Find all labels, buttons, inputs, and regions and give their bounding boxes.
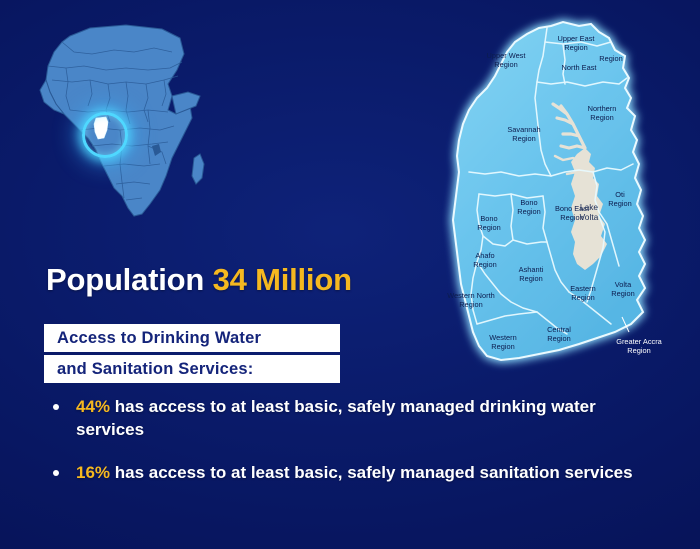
svg-text:Region: Region: [494, 60, 517, 69]
region-label: EasternRegion: [570, 284, 595, 302]
region-label: BonoRegion: [477, 214, 500, 232]
svg-text:Volta: Volta: [615, 280, 632, 289]
svg-text:Region: Region: [547, 334, 570, 343]
bullet-dot-icon: [53, 470, 59, 476]
lake-volta-label: Lake Volta: [580, 202, 599, 222]
svg-text:Western North: Western North: [447, 291, 495, 300]
ghana-regions-map: Upper WestRegion Upper EastRegion North …: [420, 12, 698, 380]
svg-text:Ahafo: Ahafo: [475, 251, 494, 260]
section-heading-line2-text: and Sanitation Services:: [57, 360, 253, 379]
svg-text:Region: Region: [477, 223, 500, 232]
region-label: VoltaRegion: [611, 280, 634, 298]
section-heading-line1: Access to Drinking Water: [44, 324, 340, 352]
region-label: BonoRegion: [517, 198, 540, 216]
region-label: NorthernRegion: [588, 104, 617, 122]
africa-continent-shape: [40, 25, 204, 216]
svg-text:Region: Region: [611, 289, 634, 298]
list-item: 44% has access to at least basic, safely…: [46, 396, 646, 441]
svg-text:Greater Accra: Greater Accra: [616, 337, 662, 346]
svg-text:Ashanti: Ashanti: [519, 265, 544, 274]
stat-text: has access to at least basic, safely man…: [76, 397, 596, 439]
svg-text:Volta: Volta: [580, 212, 599, 222]
population-value: 34 Million: [213, 262, 352, 297]
population-label: Population: [46, 262, 204, 297]
svg-text:Region: Region: [599, 54, 622, 63]
svg-text:Region: Region: [517, 207, 540, 216]
statistics-list: 44% has access to at least basic, safely…: [46, 396, 646, 485]
svg-text:Region: Region: [512, 134, 535, 143]
svg-text:Region: Region: [459, 300, 482, 309]
svg-text:Region: Region: [564, 43, 587, 52]
bullet-dot-icon: [53, 404, 59, 410]
svg-text:Bono: Bono: [520, 198, 537, 207]
svg-text:Region: Region: [491, 342, 514, 351]
stat-percent: 16%: [76, 463, 110, 482]
svg-text:Region: Region: [590, 113, 613, 122]
svg-text:Region: Region: [571, 293, 594, 302]
population-headline: Population 34 Million: [46, 262, 352, 298]
region-label: CentralRegion: [547, 325, 571, 343]
section-heading-line1-text: Access to Drinking Water: [57, 329, 261, 348]
svg-text:Region: Region: [473, 260, 496, 269]
svg-text:Region: Region: [608, 199, 631, 208]
region-label: AshantiRegion: [519, 265, 544, 283]
stat-text: has access to at least basic, safely man…: [110, 463, 633, 482]
svg-text:Upper West: Upper West: [487, 51, 526, 60]
svg-text:Region: Region: [627, 346, 650, 355]
region-label: SavannahRegion: [507, 125, 540, 143]
svg-text:Northern: Northern: [588, 104, 617, 113]
svg-text:Upper East: Upper East: [558, 34, 595, 43]
svg-text:Bono: Bono: [480, 214, 497, 223]
svg-text:Oti: Oti: [615, 190, 625, 199]
section-heading-line2: and Sanitation Services:: [44, 355, 340, 383]
svg-text:Central: Central: [547, 325, 571, 334]
svg-text:Eastern: Eastern: [570, 284, 595, 293]
svg-text:Region: Region: [519, 274, 542, 283]
svg-text:Savannah: Savannah: [507, 125, 540, 134]
stat-percent: 44%: [76, 397, 110, 416]
list-item: 16% has access to at least basic, safely…: [46, 462, 646, 485]
svg-text:Lake: Lake: [580, 202, 599, 212]
region-label: Greater AccraRegion: [616, 337, 662, 355]
svg-text:North East: North East: [562, 63, 597, 72]
infographic-canvas: Upper WestRegion Upper EastRegion North …: [0, 0, 700, 549]
africa-locator-map: [22, 18, 242, 240]
svg-text:Western: Western: [489, 333, 516, 342]
region-label: AhafoRegion: [473, 251, 496, 269]
region-label: WesternRegion: [489, 333, 516, 351]
